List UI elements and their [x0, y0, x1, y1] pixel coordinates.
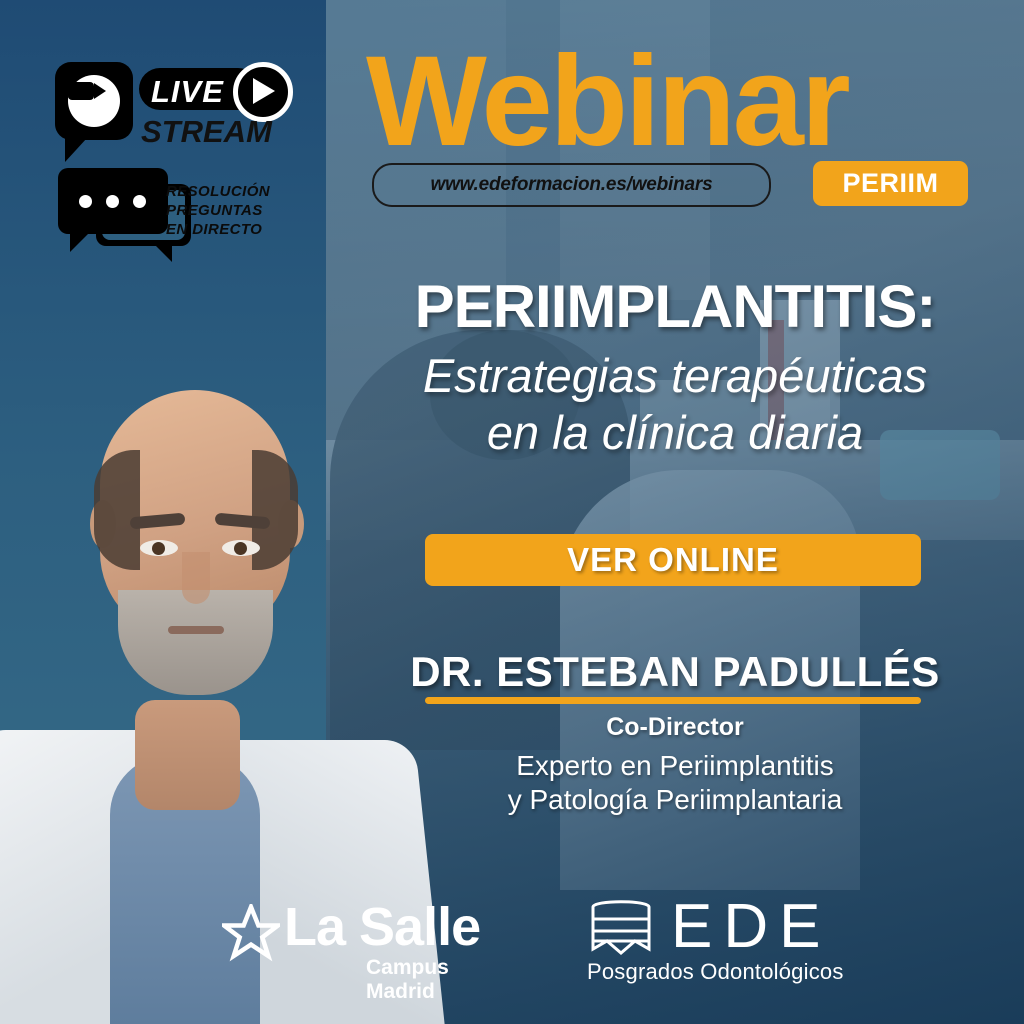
website-url-text: www.edeformacion.es/webinars — [431, 174, 713, 196]
questions-badge: RESOLUCIÓN PREGUNTAS EN DIRECTO — [58, 168, 288, 258]
chat-bubble-front-icon — [58, 168, 168, 234]
live-label: LIVE — [151, 74, 224, 110]
periim-label: PERIIM — [842, 168, 938, 199]
speaker-role: Co-Director — [0, 713, 1024, 742]
speaker-divider — [425, 697, 921, 704]
ede-tagline: Posgrados Odontológicos — [587, 959, 844, 985]
ede-letters: EDE — [671, 891, 831, 962]
questions-line-1: RESOLUCIÓN — [166, 182, 270, 201]
questions-line-2: PREGUNTAS — [166, 201, 270, 220]
website-url-pill[interactable]: www.edeformacion.es/webinars — [372, 163, 771, 207]
webinar-wordmark: Webinar — [366, 38, 848, 166]
ver-online-label: VER ONLINE — [567, 541, 779, 579]
video-camera-icon — [55, 62, 133, 140]
questions-line-3: EN DIRECTO — [166, 220, 270, 239]
ver-online-button[interactable]: VER ONLINE — [425, 534, 921, 586]
lasalle-campus: Campus Madrid — [366, 956, 522, 1004]
stream-label: STREAM — [141, 114, 272, 150]
speaker-credential-1: Experto en Periimplantitis — [0, 750, 1024, 782]
lasalle-name: La Salle — [284, 896, 480, 958]
live-stream-badge: LIVE STREAM — [55, 62, 285, 167]
periim-badge: PERIIM — [813, 161, 968, 206]
tooth-logo-icon — [585, 897, 657, 961]
subtitle-line-1: Estrategias terapéuticas — [0, 348, 1024, 403]
subtitle-line-2: en la clínica diaria — [0, 405, 1024, 460]
star-outline-icon — [222, 904, 280, 962]
webinar-promo-poster: LIVE STREAM RESOLUCIÓN PREGUNTAS EN DIRE… — [0, 0, 1024, 1024]
speaker-credential-2: y Patología Periimplantaria — [0, 784, 1024, 816]
page-title: PERIIMPLANTITIS: — [0, 272, 1024, 341]
questions-text: RESOLUCIÓN PREGUNTAS EN DIRECTO — [166, 182, 270, 239]
ede-logo: EDE Posgrados Odontológicos — [585, 895, 845, 991]
lasalle-logo: La Salle Campus Madrid — [222, 898, 522, 990]
speaker-name: DR. ESTEBAN PADULLÉS — [0, 648, 1024, 696]
